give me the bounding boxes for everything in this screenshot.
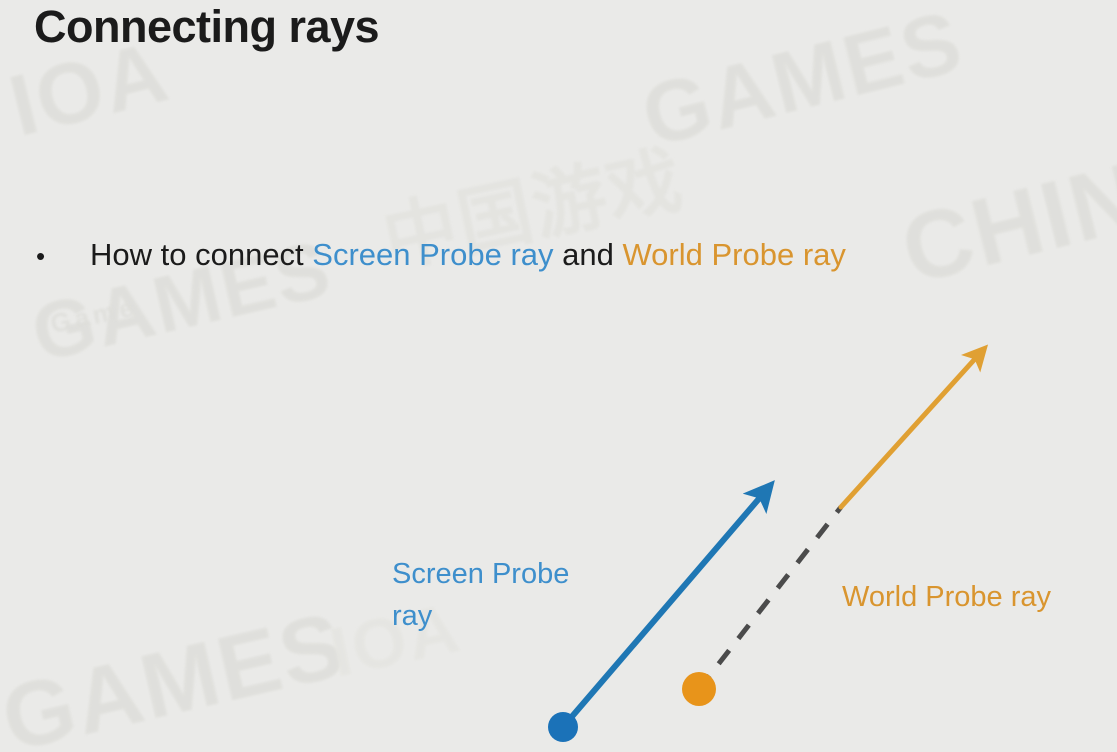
screen-probe-ray-label: Screen Probe ray bbox=[392, 553, 632, 637]
world-probe-origin-dot bbox=[682, 672, 716, 706]
slide-canvas: IOA GAMES 中国游戏 CHINA GAMES Game GAMES IO… bbox=[0, 0, 1117, 752]
screen-probe-origin-dot bbox=[548, 712, 578, 742]
world-probe-ray-label: World Probe ray bbox=[842, 576, 1051, 618]
connector-dashed-line bbox=[699, 507, 841, 689]
ray-diagram bbox=[0, 0, 1117, 752]
world-probe-ray-arrow bbox=[841, 350, 983, 507]
